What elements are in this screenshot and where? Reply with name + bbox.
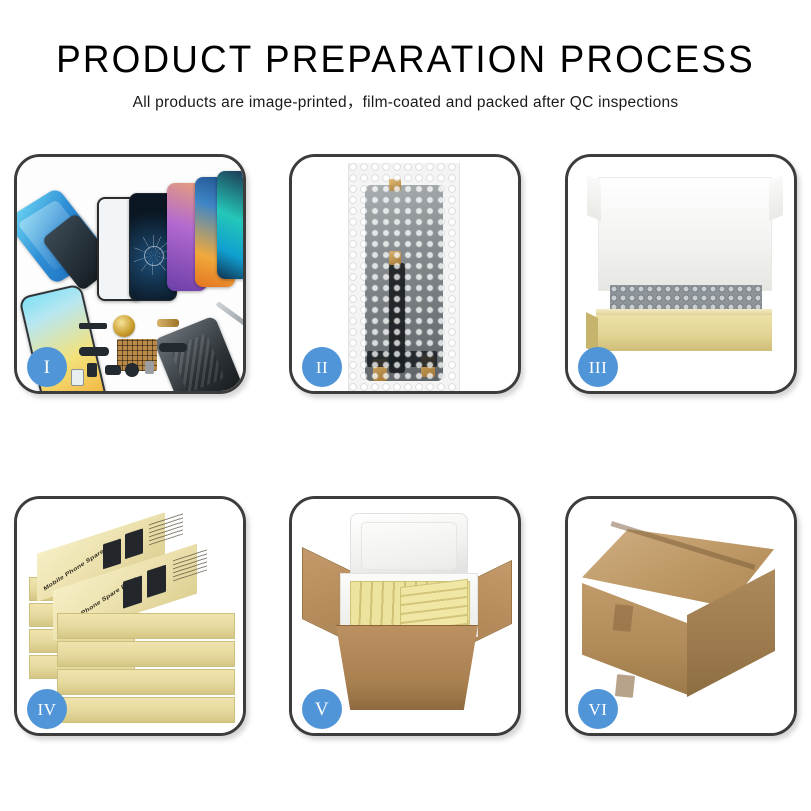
product-preparation-infographic: PRODUCT PREPARATION PROCESS All products…	[0, 0, 811, 811]
gold-coil-part	[113, 315, 135, 337]
spare-part-connector-1	[157, 319, 179, 327]
page-title: PRODUCT PREPARATION PROCESS	[12, 38, 799, 82]
spare-part-chip-1	[87, 363, 97, 377]
step-badge-2: II	[302, 347, 342, 387]
carton-tape-lower	[615, 674, 635, 698]
step-badge-3: III	[578, 347, 618, 387]
box-art-screen-2b	[147, 565, 166, 598]
stacked-box-front-1	[57, 613, 235, 639]
spare-part-flex-1	[79, 347, 109, 356]
bubble-wrap-bag	[348, 163, 460, 391]
step-badge-5: V	[302, 689, 342, 729]
spare-part-flex-2	[159, 343, 187, 352]
spare-part-glass	[71, 369, 84, 386]
step-badge-1: I	[27, 347, 67, 387]
step-card-1[interactable]: I	[14, 154, 246, 394]
carton-tape-upper	[613, 604, 634, 632]
spare-part-speaker	[125, 363, 139, 377]
stacked-box-front-3	[57, 669, 235, 695]
step-card-5[interactable]: V	[289, 496, 521, 736]
open-box-lid	[598, 177, 772, 291]
page-subtitle: All products are image-printed，film-coat…	[0, 92, 811, 114]
teal-wave-phone	[217, 171, 243, 279]
box-spec-lines-2	[173, 548, 207, 581]
step-badge-4: IV	[27, 689, 67, 729]
step-card-4[interactable]: Mobile Phone Spare Parts Mobile Phone Sp…	[14, 496, 246, 736]
box-spec-lines-1	[149, 512, 183, 545]
gold-box-front	[596, 315, 772, 351]
stacked-box-front-2	[57, 641, 235, 667]
spare-part-chip-2	[105, 365, 121, 375]
header: PRODUCT PREPARATION PROCESS All products…	[0, 38, 811, 114]
bubble-texture-overlay	[349, 163, 459, 391]
carton-left-face	[582, 583, 688, 695]
carton-body	[336, 625, 478, 710]
spare-part-strip-1	[79, 323, 107, 329]
tweezer-tool-icon	[216, 301, 243, 330]
step-card-6[interactable]: VI	[565, 496, 797, 736]
box-art-screen-2a	[123, 575, 142, 608]
foam-box-lid	[350, 513, 468, 579]
step-card-2[interactable]: II	[289, 154, 521, 394]
box-art-screen-1a	[103, 539, 121, 570]
step-badge-6: VI	[578, 689, 618, 729]
box-art-screen-1b	[125, 528, 143, 559]
steps-grid: I II	[14, 154, 797, 736]
spare-part-battery	[145, 361, 154, 374]
step-card-3[interactable]: III	[565, 154, 797, 394]
stacked-box-front-4	[57, 697, 235, 723]
